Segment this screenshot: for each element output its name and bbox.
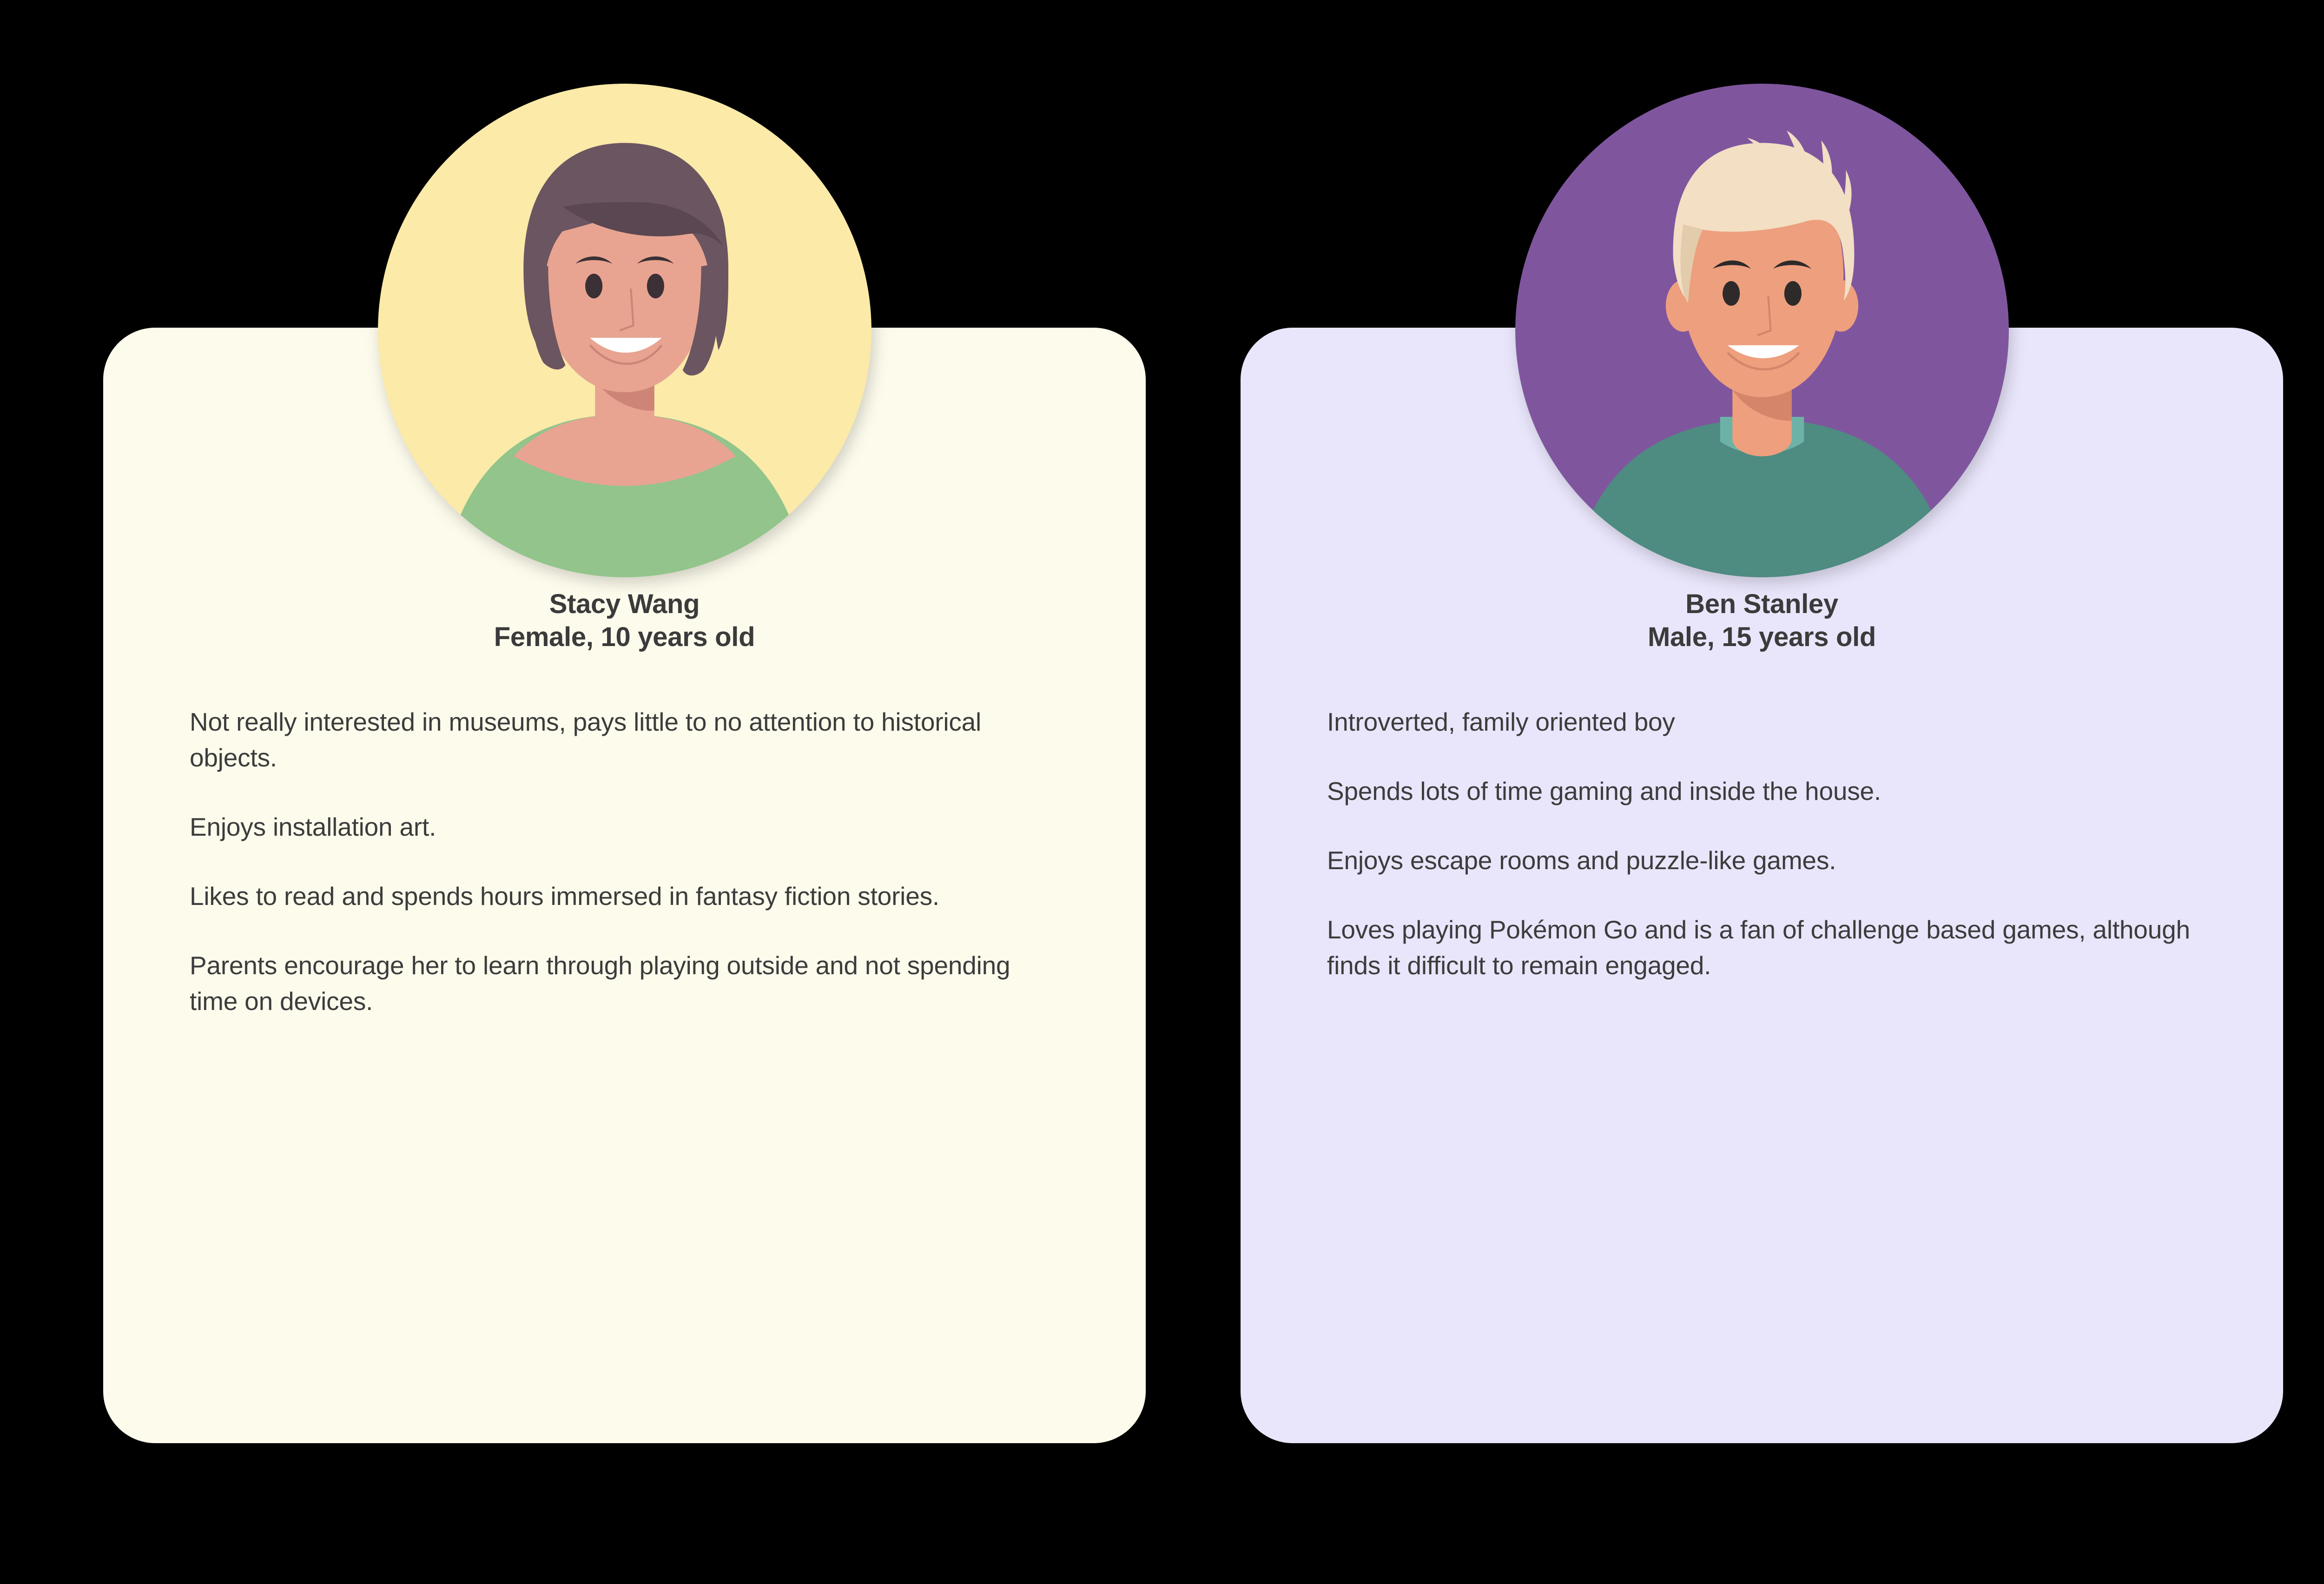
persona-bullet: Spends lots of time gaming and inside th… <box>1327 773 2197 809</box>
persona-title: Stacy Wang Female, 10 years old <box>190 588 1059 654</box>
avatar-stacy-wang-icon <box>378 84 871 577</box>
avatar-ben-stanley-icon <box>1515 84 2009 577</box>
persona-card-stacy-wang[interactable]: Stacy Wang Female, 10 years old Not real… <box>103 328 1146 1443</box>
avatar <box>1515 84 2009 577</box>
persona-board: Stacy Wang Female, 10 years old Not real… <box>0 0 2324 1584</box>
persona-demographics: Female, 10 years old <box>190 621 1059 654</box>
persona-title: Ben Stanley Male, 15 years old <box>1327 588 2197 654</box>
persona-bullet: Likes to read and spends hours immersed … <box>190 878 1059 914</box>
persona-description: Introverted, family oriented boy Spends … <box>1327 704 2197 983</box>
avatar <box>378 84 871 577</box>
persona-description: Not really interested in museums, pays l… <box>190 704 1059 1019</box>
persona-bullet: Enjoys installation art. <box>190 809 1059 845</box>
persona-name: Stacy Wang <box>190 588 1059 621</box>
persona-content: Stacy Wang Female, 10 years old Not real… <box>103 588 1146 1019</box>
persona-card-ben-stanley[interactable]: Ben Stanley Male, 15 years old Introvert… <box>1241 328 2283 1443</box>
persona-demographics: Male, 15 years old <box>1327 621 2197 654</box>
persona-bullet: Introverted, family oriented boy <box>1327 704 2197 740</box>
persona-content: Ben Stanley Male, 15 years old Introvert… <box>1241 588 2283 983</box>
persona-bullet: Enjoys escape rooms and puzzle-like game… <box>1327 843 2197 878</box>
persona-bullet: Not really interested in museums, pays l… <box>190 704 1059 776</box>
persona-bullet: Loves playing Pokémon Go and is a fan of… <box>1327 912 2197 983</box>
persona-bullet: Parents encourage her to learn through p… <box>190 948 1059 1019</box>
persona-name: Ben Stanley <box>1327 588 2197 621</box>
